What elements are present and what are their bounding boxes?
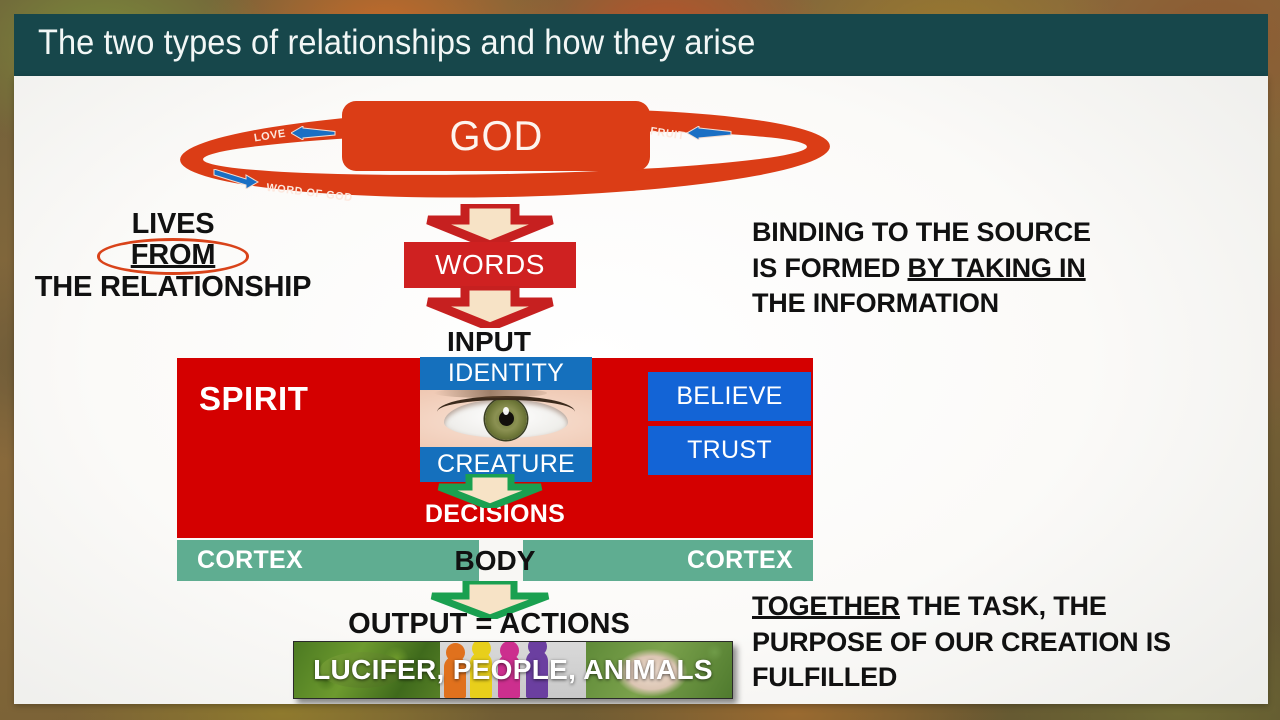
- god-box: GOD: [342, 101, 650, 171]
- lives-from-relationship-text: LIVES FROM THE RELATIONSHIP: [18, 209, 328, 303]
- body-label: BODY: [177, 540, 813, 581]
- lives-line1: LIVES: [18, 209, 328, 240]
- red-arrow-down-to-input-icon: [416, 286, 564, 328]
- spirit-label: SPIRIT: [199, 380, 308, 418]
- arrow-left-blue-love-icon: [291, 126, 337, 140]
- figurine-orange: [444, 656, 466, 698]
- together-line3: FULFILLED: [752, 660, 1212, 696]
- lives-line3: THE RELATIONSHIP: [18, 272, 328, 303]
- binding-line2-plain: IS FORMED: [752, 253, 908, 283]
- together-line1: TOGETHER THE TASK, THE: [752, 589, 1212, 625]
- identity-box: IDENTITY: [420, 357, 592, 390]
- binding-line2-underlined: BY TAKING IN: [908, 253, 1086, 283]
- identity-creature-stack: IDENTITY CREATURE: [420, 357, 592, 482]
- arrow-right-blue-word-icon: [212, 169, 260, 189]
- together-line2: PURPOSE OF OUR CREATION IS: [752, 625, 1212, 661]
- together-task-text: TOGETHER THE TASK, THE PURPOSE OF OUR CR…: [752, 589, 1212, 696]
- people-figurines-photo: [440, 642, 586, 698]
- binding-line2: IS FORMED BY TAKING IN: [752, 251, 1172, 287]
- binding-line1: BINDING TO THE SOURCE: [752, 215, 1172, 251]
- trust-box: TRUST: [648, 426, 811, 475]
- slide-canvas: LOVE FRUIT WORD OF GOD GOD WORDS: [14, 76, 1268, 704]
- words-label: WORDS: [435, 249, 545, 281]
- binding-line3: THE INFORMATION: [752, 286, 1172, 322]
- rabbit-photo: [586, 642, 732, 698]
- binding-to-source-text: BINDING TO THE SOURCE IS FORMED BY TAKIN…: [752, 215, 1172, 322]
- god-label: GOD: [449, 112, 543, 160]
- together-line1-underlined: TOGETHER: [752, 591, 900, 621]
- believe-trust-stack: BELIEVE TRUST: [648, 372, 811, 475]
- slide: The two types of relationships and how t…: [14, 14, 1268, 704]
- believe-box: BELIEVE: [648, 372, 811, 421]
- spirit-block: SPIRIT IDENTITY CREATURE BELIEVE TRUST: [177, 358, 813, 538]
- figurine-purple: [526, 650, 548, 698]
- figurine-yellow: [470, 652, 492, 698]
- eye-photo: [420, 390, 592, 447]
- lives-line2: FROM: [131, 240, 216, 271]
- red-arrow-down-to-words-icon: [416, 204, 564, 246]
- slide-title-bar: The two types of relationships and how t…: [14, 14, 1268, 76]
- green-arrow-down-to-decisions-icon: [429, 474, 551, 508]
- arrow-left-blue-fruit-icon: [687, 126, 733, 140]
- snake-photo: [294, 642, 440, 698]
- together-line1-plain: THE TASK, THE: [900, 591, 1107, 621]
- page-title: The two types of relationships and how t…: [38, 23, 755, 63]
- lucifer-people-animals-strip: LUCIFER, PEOPLE, ANIMALS: [293, 641, 733, 699]
- words-box: WORDS: [404, 242, 576, 288]
- figurine-pink: [498, 654, 520, 698]
- input-label: INPUT: [14, 326, 964, 358]
- from-highlight: FROM: [131, 240, 216, 271]
- cortex-body-bar: CORTEX CORTEX BODY: [177, 540, 813, 581]
